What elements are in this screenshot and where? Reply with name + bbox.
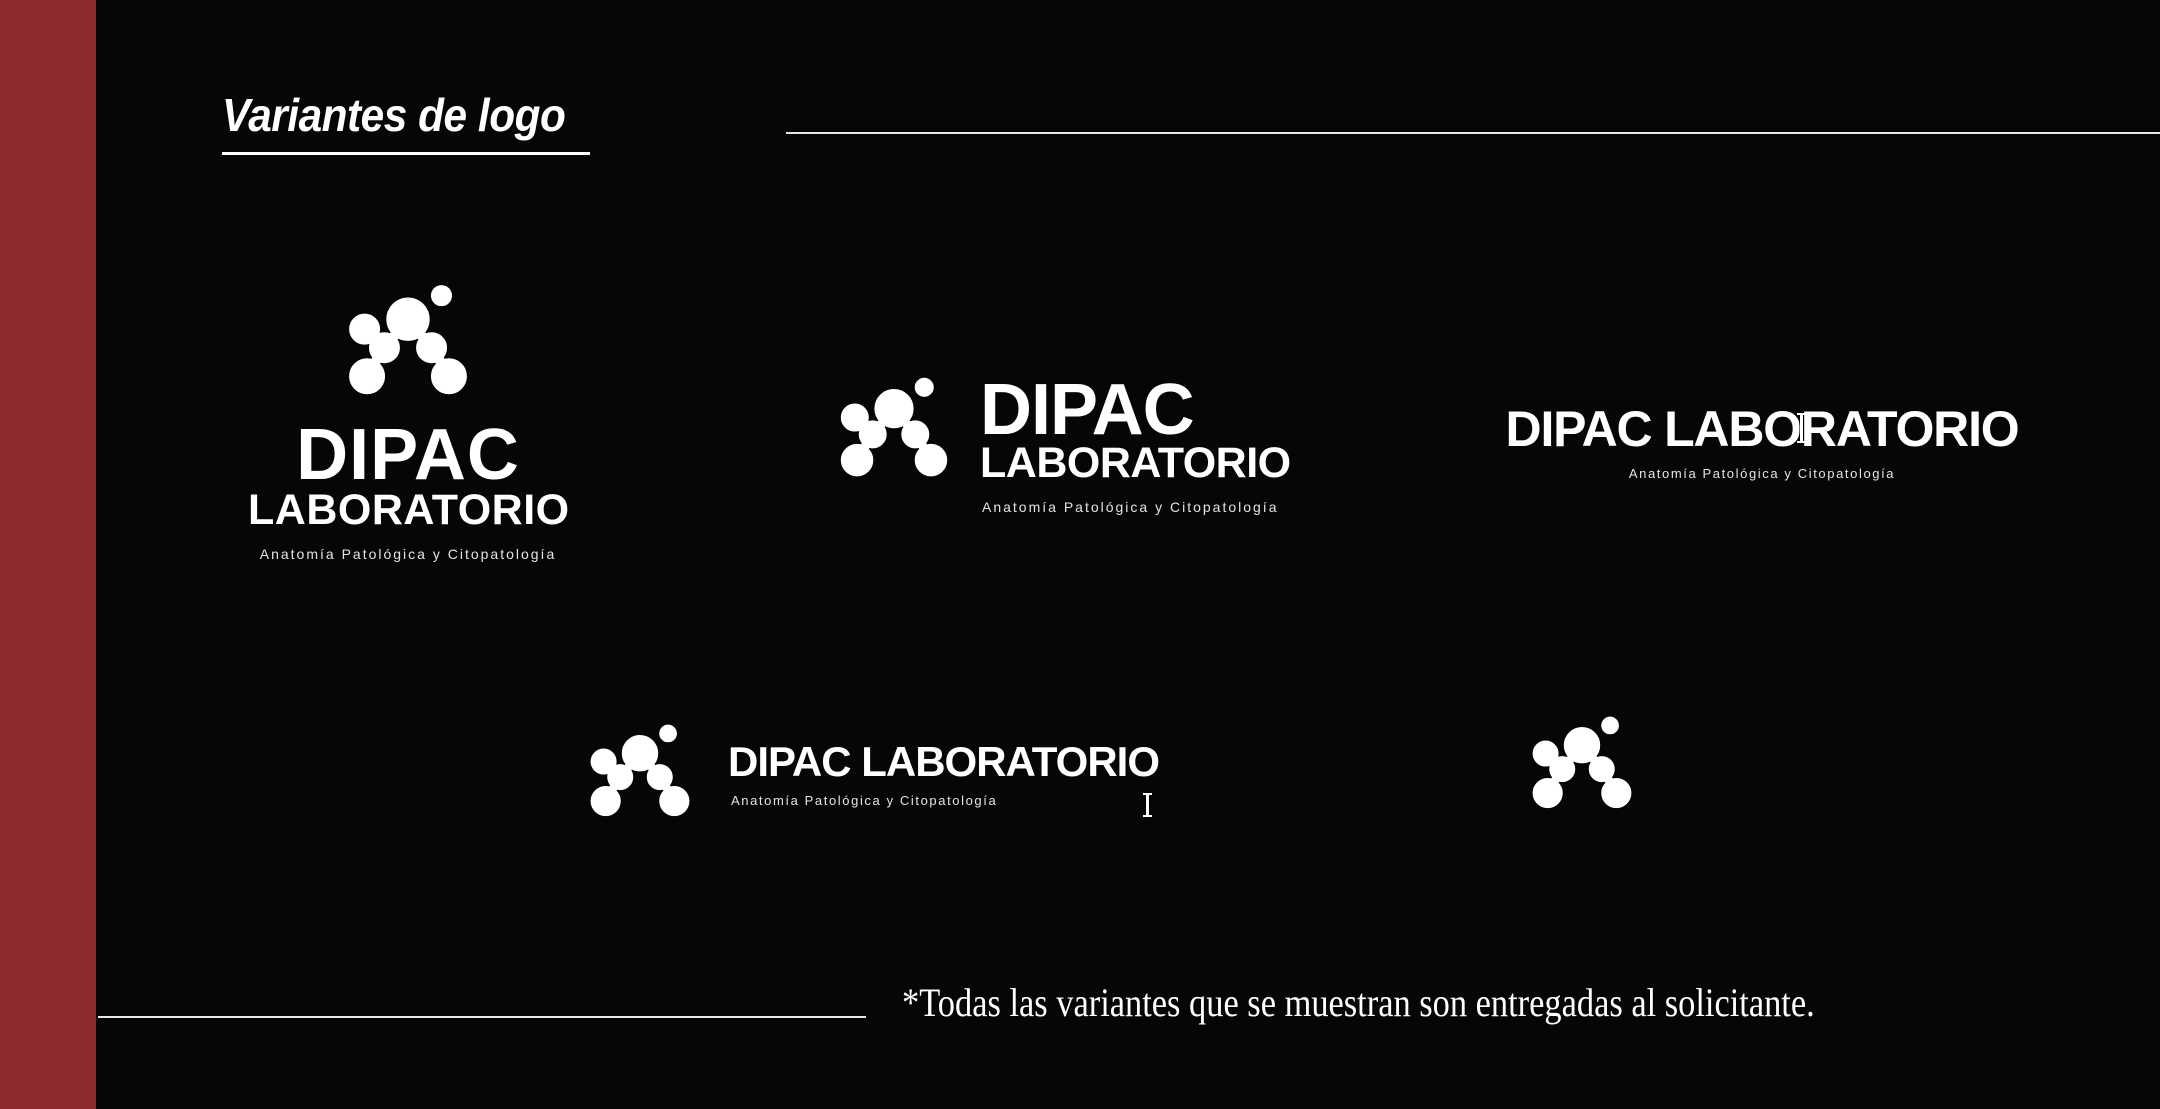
brand-tagline: Anatomía Patológica y Citopatología [248,546,568,562]
slide-canvas: Variantes de logo [0,0,2160,1109]
logo-variant-text-only[interactable]: DIPAC LABORATORIO Anatomía Patológica y … [1502,404,2022,481]
left-accent-bar [0,0,96,1109]
molecule-icon [588,722,692,826]
page-title: Variantes de logo [222,92,565,138]
title-underline [222,152,590,155]
wordmark-laboratorio: LABORATORIO [248,489,568,532]
logo-variant-horizontal-stacked[interactable]: DIPAC LABORATORIO Anatomía Patológica y … [838,375,1291,515]
logo-variant-vertical-stacked[interactable]: DIPAC LABORATORIO Anatomía Patológica y … [248,282,568,562]
text-cursor-icon [1146,793,1149,817]
header-divider-line [786,132,2160,134]
wordmark-dipac: DIPAC [248,424,568,487]
wordmark-block: DIPAC LABORATORIO Anatomía Patológica y … [248,424,568,562]
logo-variant-icon-only[interactable] [1530,714,1634,818]
molecule-icon-wrap [248,282,568,406]
brand-tagline: Anatomía Patológica y Citopatología [982,499,1291,515]
brand-tagline: Anatomía Patológica y Citopatología [1502,466,2022,481]
text-cursor-icon [1800,413,1803,443]
wordmark-dipac: DIPAC [980,379,1291,442]
wordmark-block: DIPAC LABORATORIO Anatomía Patológica y … [980,379,1291,515]
wordmark-dipac-laboratorio: DIPAC LABORATORIO [728,741,1159,783]
footer-divider-line [98,1016,866,1018]
brand-tagline: Anatomía Patológica y Citopatología [731,793,1159,808]
molecule-icon [838,375,950,487]
footnote-text: *Todas las variantes que se muestran son… [902,981,1815,1025]
logo-variant-horizontal-inline[interactable]: DIPAC LABORATORIO Anatomía Patológica y … [588,722,1159,826]
molecule-icon [1530,714,1634,818]
wordmark-block: DIPAC LABORATORIO Anatomía Patológica y … [728,741,1159,808]
wordmark-laboratorio: LABORATORIO [980,442,1291,485]
wordmark-dipac-laboratorio: DIPAC LABORATORIO [1502,404,2022,454]
molecule-icon [346,282,470,406]
